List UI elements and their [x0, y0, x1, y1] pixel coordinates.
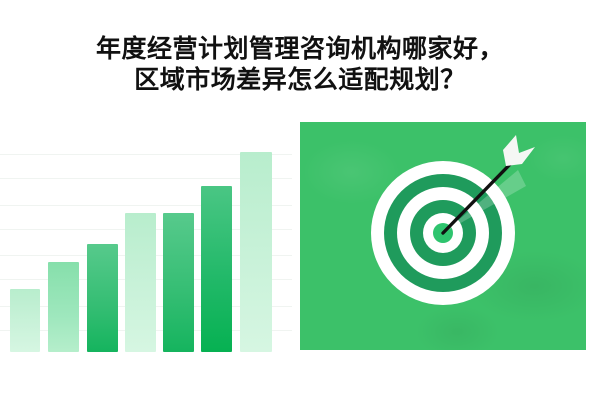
- title-line-1: 年度经营计划管理咨询机构哪家好，: [0, 34, 600, 65]
- poster-canvas: 年度经营计划管理咨询机构哪家好， 区域市场差异怎么适配规划？: [0, 0, 600, 400]
- chart-bar: [163, 213, 194, 352]
- title-line-2: 区域市场差异怎么适配规划？: [0, 65, 600, 96]
- target-illustration-panel: [300, 122, 586, 350]
- target-icon: [300, 122, 586, 350]
- chart-bar: [10, 289, 40, 352]
- chart-bar: [125, 213, 156, 352]
- page-title: 年度经营计划管理咨询机构哪家好， 区域市场差异怎么适配规划？: [0, 34, 600, 95]
- bar-chart: [0, 140, 292, 352]
- chart-bar: [240, 152, 272, 352]
- chart-bar: [87, 244, 118, 352]
- chart-bar: [48, 262, 79, 352]
- chart-bars: [0, 142, 292, 352]
- chart-bar: [201, 186, 232, 352]
